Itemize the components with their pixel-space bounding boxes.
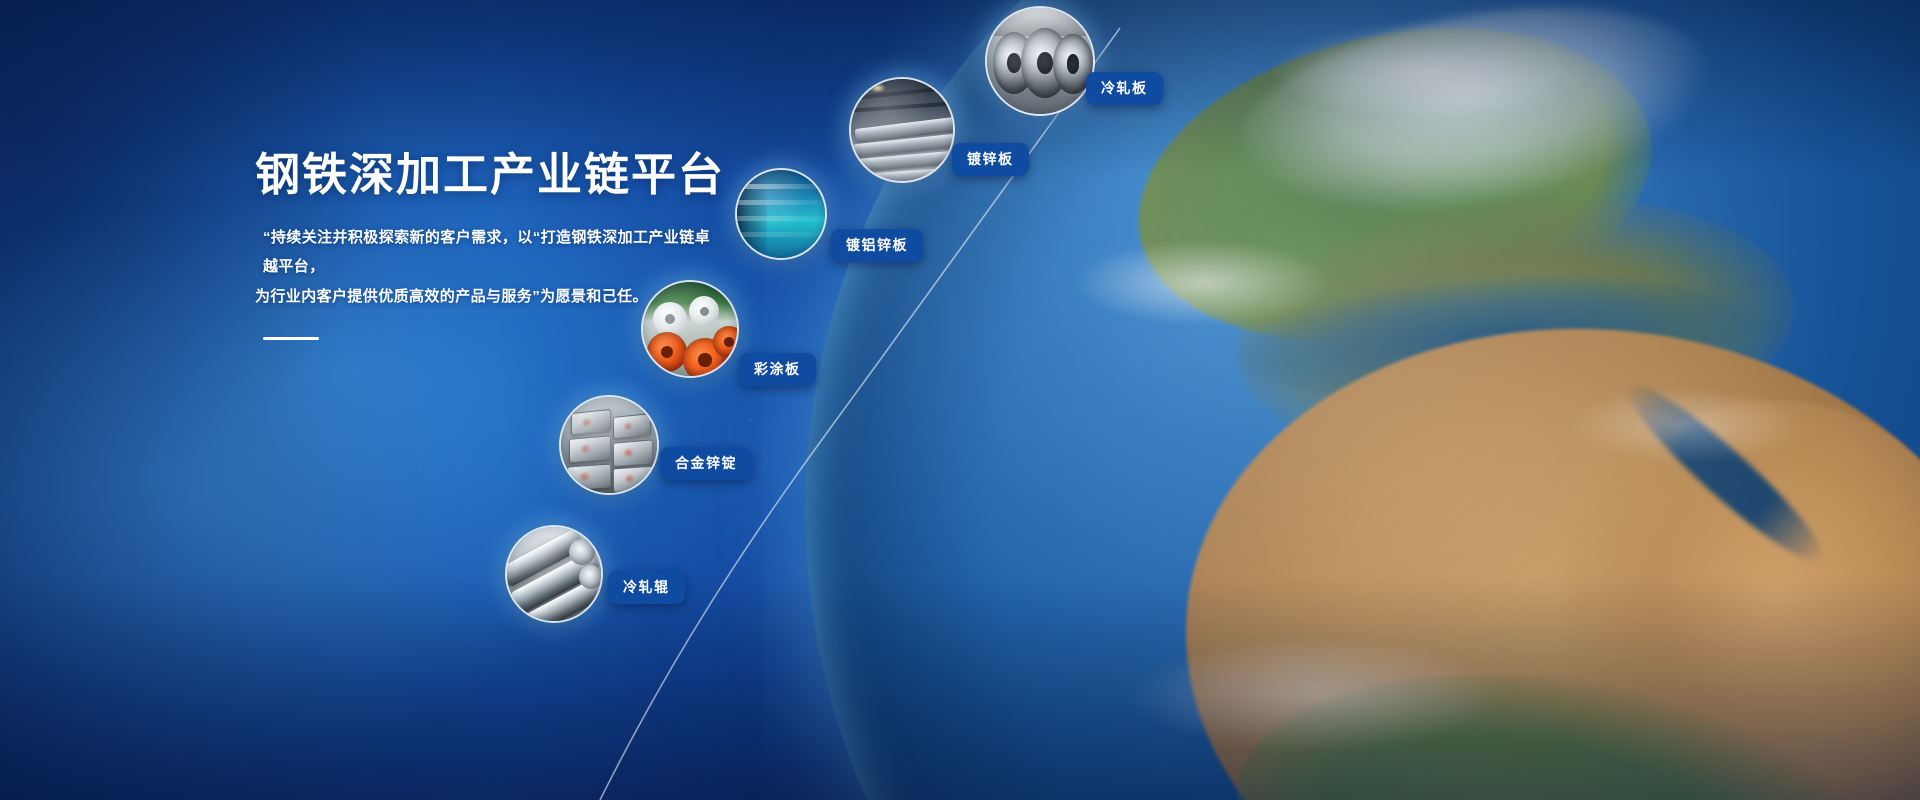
steel-coil-photo[interactable] bbox=[985, 6, 1095, 116]
hero-subtitle-line-2: 为行业内客户提供优质高效的产品与服务”为愿景和己任。 bbox=[255, 282, 725, 311]
cold-roll-roller-photo[interactable] bbox=[505, 525, 603, 623]
hero-subtitle: “持续关注并积极探索新的客户需求，以“打造钢铁深加工产业链卓越平台， 为行业内客… bbox=[255, 223, 725, 311]
hero-text-block: 钢铁深加工产业链平台 “持续关注并积极探索新的客户需求，以“打造钢铁深加工产业链… bbox=[255, 148, 725, 340]
hero-banner: 冷轧板 镀锌板 bbox=[0, 0, 1920, 800]
product-tag-5[interactable]: 合金锌锭 bbox=[660, 447, 752, 480]
product-label: 彩涂板 bbox=[754, 361, 801, 377]
product-tag-1[interactable]: 冷轧板 bbox=[1086, 72, 1163, 105]
product-label: 镀锌板 bbox=[967, 151, 1014, 167]
product-tag-4[interactable]: 彩涂板 bbox=[739, 353, 816, 386]
product-tag-3[interactable]: 镀铝锌板 bbox=[831, 229, 923, 262]
product-label: 冷轧辊 bbox=[623, 579, 670, 595]
title-divider bbox=[263, 337, 319, 340]
product-chain-arc bbox=[0, 0, 1920, 800]
page-title: 钢铁深加工产业链平台 bbox=[255, 148, 725, 201]
zinc-ingot-photo[interactable] bbox=[559, 395, 659, 495]
galvanized-warehouse-photo[interactable] bbox=[849, 77, 955, 183]
product-label: 冷轧板 bbox=[1101, 80, 1148, 96]
product-tag-6[interactable]: 冷轧辊 bbox=[608, 571, 685, 604]
aluzinc-coil-photo[interactable] bbox=[735, 168, 827, 260]
hero-subtitle-line-1: “持续关注并积极探索新的客户需求，以“打造钢铁深加工产业链卓越平台， bbox=[255, 223, 725, 282]
product-label: 合金锌锭 bbox=[675, 455, 737, 471]
product-label: 镀铝锌板 bbox=[846, 237, 908, 253]
product-tag-2[interactable]: 镀锌板 bbox=[952, 143, 1029, 176]
